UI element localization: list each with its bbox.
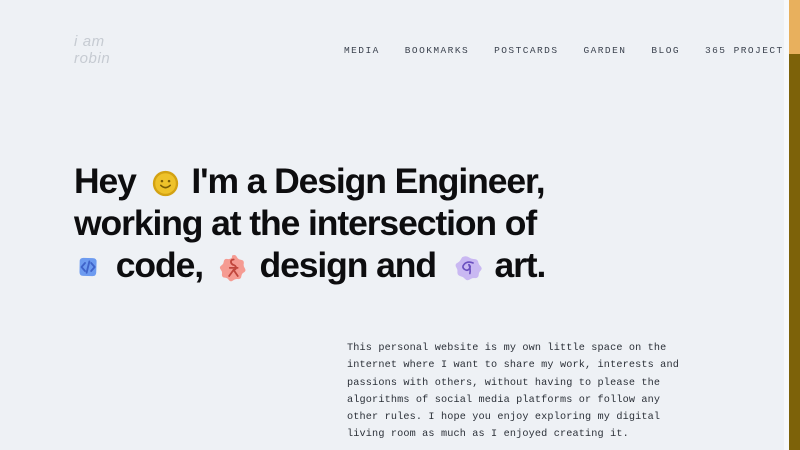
headline-line-2: working at the intersection of [74, 202, 694, 244]
site-header: i am robin MEDIA BOOKMARKS POSTCARDS GAR… [0, 0, 788, 100]
smiling-face-emoji [152, 170, 179, 197]
headline-line-1: Hey I'm a Design Engineer, [74, 160, 694, 202]
headline-art-word: art. [494, 245, 545, 285]
nav-link-media[interactable]: MEDIA [344, 45, 380, 56]
nav-link-postcards[interactable]: POSTCARDS [494, 45, 558, 56]
main-navigation: MEDIA BOOKMARKS POSTCARDS GARDEN BLOG 36… [344, 45, 784, 56]
vertical-scrollbar-track[interactable] [789, 0, 800, 450]
headline-code-word: code, [116, 245, 203, 285]
headline-design-word: design and [260, 245, 436, 285]
page-title: Hey I'm a Design Engineer, working at th… [74, 160, 694, 286]
nav-link-365-project[interactable]: 365 PROJECT [705, 45, 784, 56]
code-brackets-icon [74, 253, 102, 281]
intro-paragraph: This personal website is my own little s… [347, 340, 697, 444]
design-figure-icon [219, 253, 248, 282]
nav-link-bookmarks[interactable]: BOOKMARKS [405, 45, 469, 56]
headline-greeting: Hey [74, 161, 136, 201]
headline-line-3: code, design and [74, 244, 694, 286]
nav-link-blog[interactable]: BLOG [651, 45, 680, 56]
site-logo[interactable]: i am robin [74, 33, 110, 67]
art-swirl-icon [454, 255, 483, 281]
page-canvas: i am robin MEDIA BOOKMARKS POSTCARDS GAR… [0, 0, 800, 450]
headline-role: I'm a Design Engineer, [191, 161, 544, 201]
vertical-scrollbar-thumb[interactable] [789, 0, 800, 54]
nav-link-garden[interactable]: GARDEN [583, 45, 626, 56]
hero-section: Hey I'm a Design Engineer, working at th… [74, 160, 694, 286]
